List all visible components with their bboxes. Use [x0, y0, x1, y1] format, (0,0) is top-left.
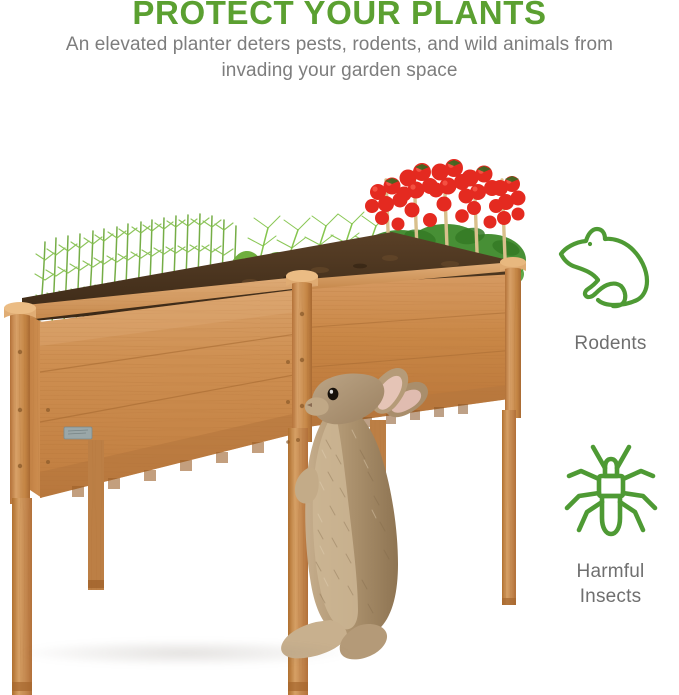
page-title: PROTECT YOUR PLANTS: [0, 0, 679, 30]
rodent-icon: [546, 218, 675, 323]
feature-insects: Harmful Insects: [546, 438, 675, 609]
feature-label-insects-line1: Harmful: [577, 561, 645, 582]
planter-leg-back-left: [88, 440, 104, 590]
feature-label-rodents: Rodents: [546, 331, 675, 356]
product-photo: [0, 110, 560, 695]
rabbit-muzzle: [305, 397, 329, 415]
planter-box: [4, 257, 526, 695]
brand-plate: [64, 427, 92, 439]
feature-rodents: Rodents: [546, 218, 675, 356]
floor-shadow: [20, 640, 350, 666]
planter-section-left: [16, 276, 318, 498]
rabbit-eye: [328, 388, 339, 400]
insect-icon: [546, 438, 675, 551]
feature-label-insects: Harmful Insects: [546, 559, 675, 609]
planter-leg-far-right: [502, 410, 516, 605]
feature-label-insects-line2: Insects: [580, 586, 642, 607]
page-subtitle: An elevated planter deters pests, rodent…: [60, 32, 619, 84]
